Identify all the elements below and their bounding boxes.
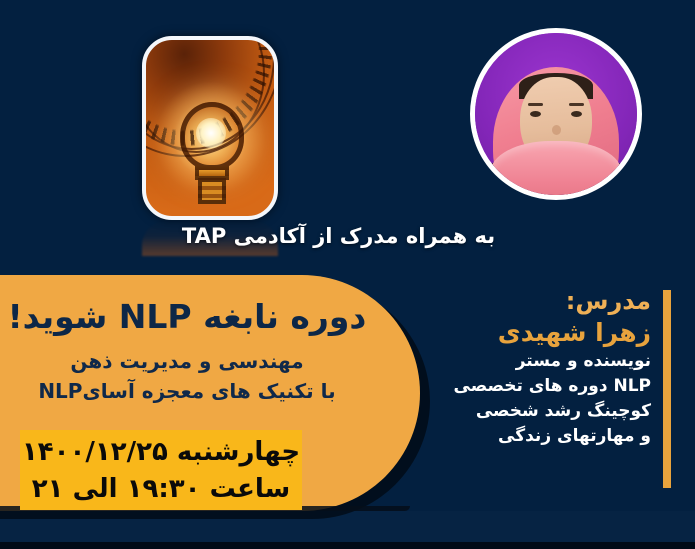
headline-prefix: دوره نابغه [203, 297, 366, 336]
subtitle-2-nlp: NLP [38, 379, 82, 403]
subtitle-2-text: با تکنیک های معجزه آسای [82, 379, 335, 403]
certificate-line: به همراه مدرک از آکادمی TAP [0, 224, 677, 248]
logo-tile [142, 36, 278, 220]
lightbulb-filament-glow [196, 118, 226, 148]
lower-navy-band [0, 511, 695, 542]
instructor-name: زهرا شهیدی [455, 316, 651, 349]
lightbulb-base [198, 178, 226, 204]
promo-poster: به همراه مدرک از آکادمی TAP دوره نابغه N… [0, 0, 695, 549]
page-title: دوره نابغه NLP شوید! [0, 297, 374, 336]
instructor-portrait [470, 28, 642, 200]
portrait-nose [552, 125, 561, 135]
schedule-chip: چهارشنبه ۱۴۰۰/۱۲/۲۵ ساعت ۱۹:۳۰ الی ۲۱ [20, 430, 302, 510]
subtitle-line-1: مهندسی و مدیریت ذهن [0, 349, 374, 373]
instructor-label: مدرس: [455, 286, 651, 316]
portrait-eye-right [571, 111, 582, 117]
instructor-credential-1: نویسنده و مستر [455, 349, 651, 374]
certificate-text: به همراه مدرک از آکادمی [234, 224, 496, 248]
portrait-eye-left [530, 111, 541, 117]
instructor-credential-3: کوچینگ رشد شخصی [455, 399, 651, 424]
headline-nlp: NLP [119, 297, 192, 336]
portrait-scarf-fold [490, 141, 622, 200]
credential-2-text: دوره های تخصصی [454, 376, 608, 396]
instructor-block: مدرس: زهرا شهیدی نویسنده و مستر NLP دوره… [455, 286, 665, 449]
subtitle-line-2: با تکنیک های معجزه آسایNLP [0, 379, 374, 403]
schedule-date: چهارشنبه ۱۴۰۰/۱۲/۲۵ [20, 434, 302, 471]
instructor-credential-2: NLP دوره های تخصصی [455, 374, 651, 399]
headline-suffix: شوید! [8, 297, 108, 336]
portrait-eyebrow-right [569, 103, 584, 106]
certificate-academy-name: TAP [182, 224, 226, 248]
credential-2-nlp: NLP [613, 376, 651, 396]
staircase-lightbulb-logo [142, 36, 278, 220]
schedule-time: ساعت ۱۹:۳۰ الی ۲۱ [20, 471, 302, 508]
portrait-eyebrow-left [528, 103, 543, 106]
instructor-credential-4: و مهارتهای زندگی [455, 424, 651, 449]
bottom-dark-band [0, 542, 695, 549]
